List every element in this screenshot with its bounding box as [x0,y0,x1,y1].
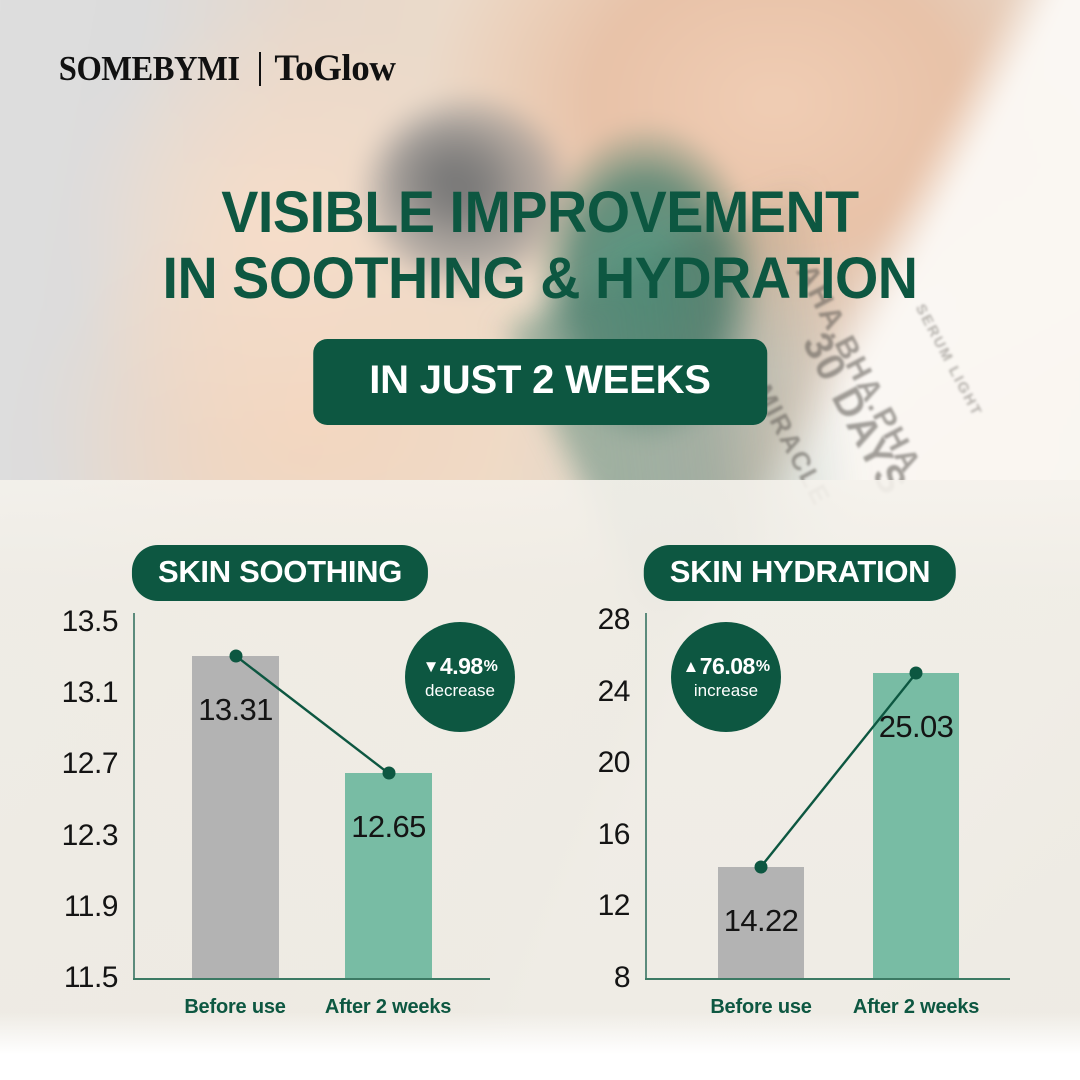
arrow-down-icon: ▼ [423,658,439,675]
change-badge: ▲76.08%increase [671,622,781,732]
plot-area-hydration: 2824201612814.22Before use25.03After 2 w… [540,535,1060,1035]
headline-pill: IN JUST 2 WEEKS [313,339,767,425]
plot-area-soothing: 13.513.112.712.311.911.513.31Before use1… [20,535,540,1035]
headline-line-1: VISIBLE IMPROVEMENT [22,180,1059,246]
trend-point [755,860,768,873]
change-value: 4.98 [440,655,483,678]
chart-skin-soothing: SKIN SOOTHING 13.513.112.712.311.911.513… [20,535,540,1035]
chart-skin-hydration: SKIN HYDRATION 2824201612814.22Before us… [540,535,1060,1035]
change-badge: ▼4.98%decrease [405,622,515,732]
trend-line [540,535,1060,1035]
logo-divider [259,52,261,86]
headline-line-2: IN SOOTHING & HYDRATION [22,246,1059,312]
brand-name: SOMEBYMI [59,49,240,89]
infographic-canvas: AHA.BHA.PHA 30 DAYS MIRACLE SERUM LIGHT … [0,0,1080,1080]
change-value: 76.08 [700,655,755,678]
brand-logo: SOMEBYMI ToGlow [52,47,395,90]
trend-point [910,667,923,680]
brand-line-name: ToGlow [274,47,395,90]
bottom-fade [0,1012,1080,1080]
change-direction-label: increase [694,682,758,699]
headline: VISIBLE IMPROVEMENT IN SOOTHING & HYDRAT… [22,180,1059,312]
arrow-up-icon: ▲ [682,658,698,675]
percent-symbol: % [756,659,770,675]
change-direction-label: decrease [425,682,495,699]
trend-point [229,649,242,662]
trend-line [20,535,540,1035]
trend-point [382,767,395,780]
percent-symbol: % [484,659,498,675]
